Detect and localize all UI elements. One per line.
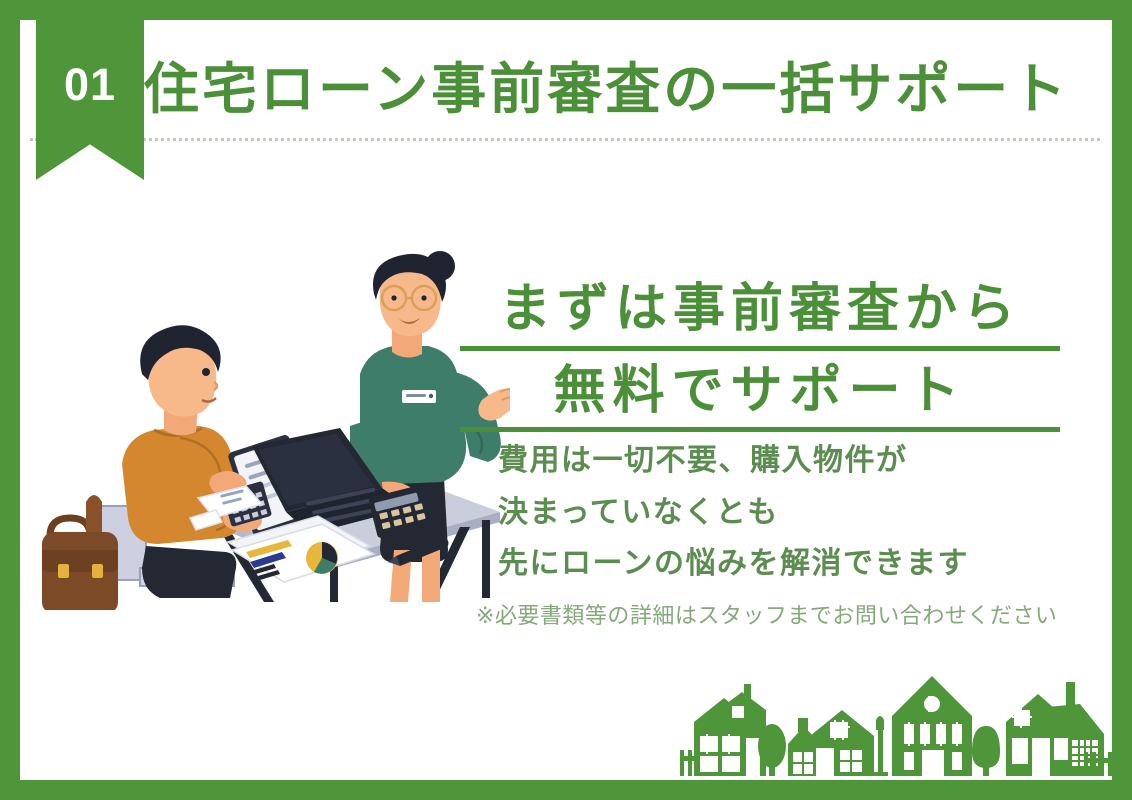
page-title: 住宅ローン事前審査の一括サポート — [144, 61, 1069, 119]
footnote: ※必要書類等の詳細はスタッフまでお問い合わせください — [476, 598, 1057, 630]
headline-block: まずは事前審査から 無料でサポート — [460, 275, 1060, 438]
headline-line-2: 無料でサポート — [460, 357, 1060, 433]
body-line-1: 費用は一切不要、購入物件が — [498, 435, 1058, 487]
body-line-2: 決まっていなくとも — [498, 487, 1058, 539]
section-number-label: 01 — [36, 62, 144, 107]
slide-root: 01 住宅ローン事前審査の一括サポート — [0, 0, 1132, 800]
house-skyline — [680, 660, 1112, 780]
page-title-row: 住宅ローン事前審査の一括サポート — [144, 42, 1104, 138]
headline-line-1: まずは事前審査から — [460, 275, 1060, 351]
section-number-badge: 01 — [36, 20, 144, 180]
body-copy-block: 費用は一切不要、購入物件が 決まっていなくとも 先にローンの悩みを解消できます — [498, 435, 1058, 590]
consultation-illustration — [30, 250, 510, 610]
header-divider — [30, 138, 1100, 144]
slide-inner-canvas: 01 住宅ローン事前審査の一括サポート — [20, 20, 1112, 780]
body-line-3: 先にローンの悩みを解消できます — [498, 538, 1058, 590]
